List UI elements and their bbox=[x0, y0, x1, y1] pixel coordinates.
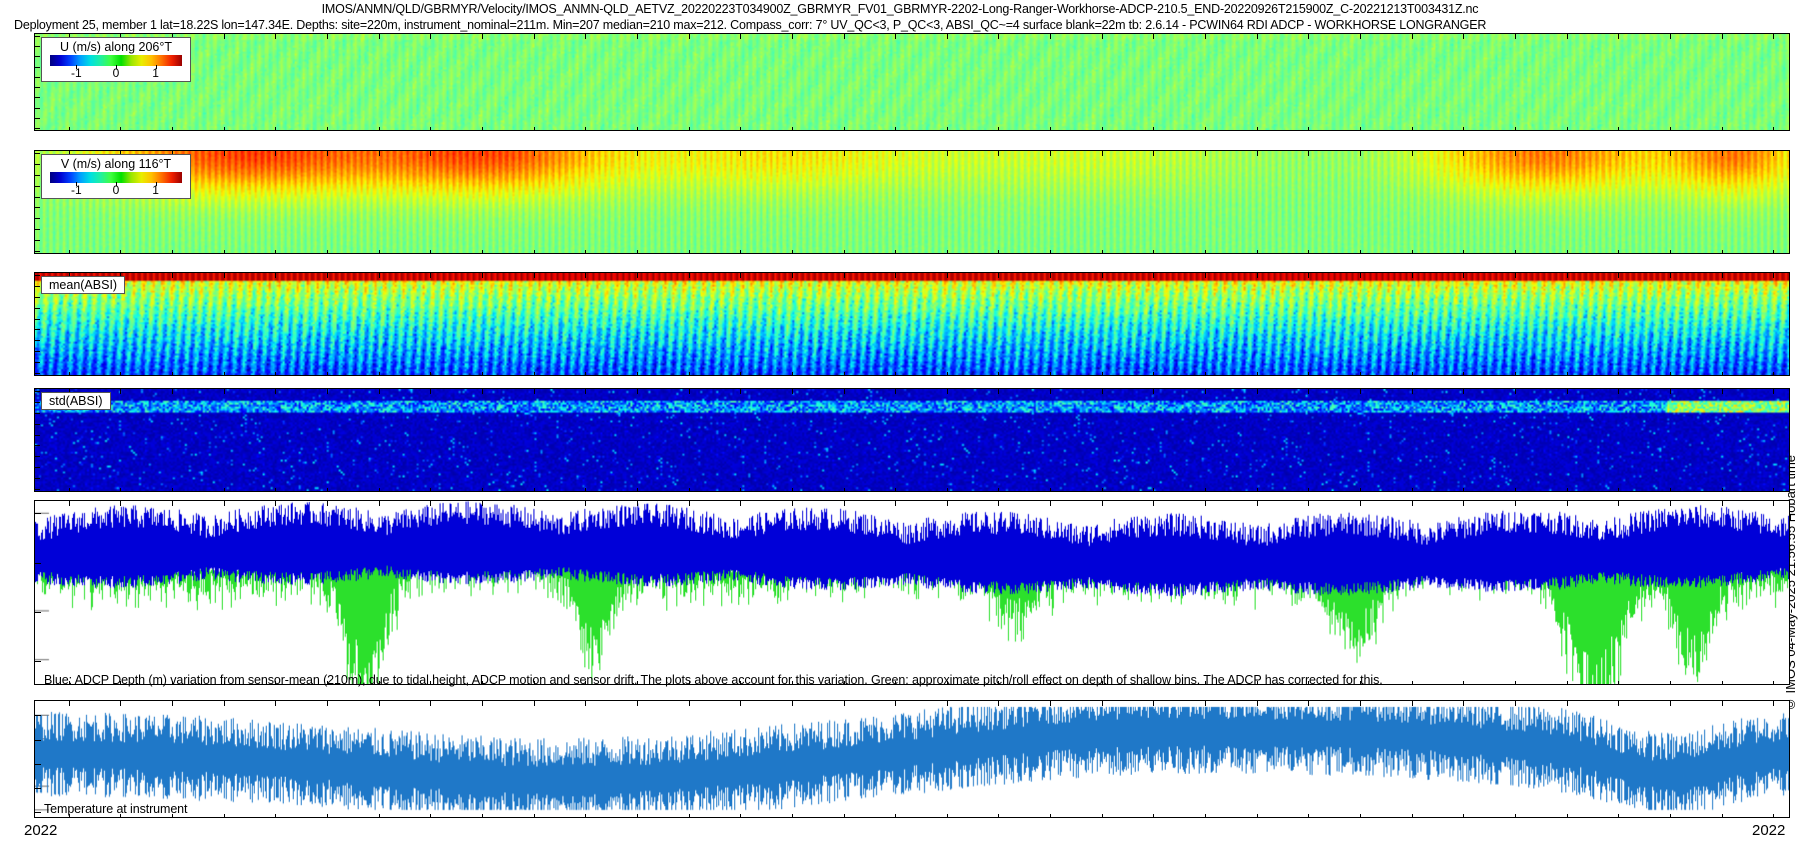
colorbar-ticks: -1 0 1 bbox=[50, 183, 182, 197]
axis-tick bbox=[430, 501, 431, 506]
axis-tick bbox=[379, 814, 380, 818]
axis-tick bbox=[689, 501, 690, 506]
axis-tick bbox=[1670, 34, 1671, 39]
axis-tick bbox=[1463, 151, 1464, 156]
axis-tick bbox=[895, 372, 896, 376]
axis-tick bbox=[947, 151, 948, 156]
axis-tick bbox=[792, 814, 793, 818]
axis-tick bbox=[585, 34, 586, 39]
axis-tick bbox=[1360, 501, 1361, 506]
axis-tick bbox=[844, 701, 845, 706]
axis-tick bbox=[998, 372, 999, 376]
axis-tick bbox=[1102, 814, 1103, 818]
colorbar-tick-mark bbox=[116, 182, 117, 186]
axis-tick bbox=[1360, 372, 1361, 376]
axis-tick bbox=[1412, 389, 1413, 394]
axis-tick bbox=[379, 127, 380, 131]
axis-tick bbox=[1670, 372, 1671, 376]
axis-tick bbox=[35, 329, 40, 330]
axis-tick bbox=[947, 488, 948, 492]
axis-tick bbox=[585, 501, 586, 506]
axis-tick bbox=[1773, 701, 1774, 706]
axis-tick bbox=[1257, 273, 1258, 278]
axis-tick bbox=[1153, 34, 1154, 39]
axis-tick bbox=[895, 701, 896, 706]
axis-tick bbox=[35, 97, 40, 98]
axis-tick bbox=[1412, 681, 1413, 685]
axis-tick bbox=[1308, 389, 1309, 394]
axis-tick bbox=[35, 373, 40, 374]
axis-tick bbox=[275, 372, 276, 376]
axis-tick bbox=[1773, 34, 1774, 39]
axis-tick bbox=[35, 308, 40, 309]
axis-tick bbox=[327, 501, 328, 506]
axis-tick bbox=[895, 273, 896, 278]
axis-tick bbox=[1618, 151, 1619, 156]
axis-tick bbox=[224, 488, 225, 492]
axis-tick bbox=[1618, 34, 1619, 39]
axis-tick bbox=[35, 36, 40, 37]
axis-tick bbox=[1308, 273, 1309, 278]
axis-tick bbox=[35, 218, 40, 219]
axis-tick bbox=[1515, 34, 1516, 39]
axis-tick bbox=[1102, 501, 1103, 506]
axis-tick bbox=[120, 501, 121, 506]
axis-tick bbox=[327, 127, 328, 131]
axis-tick bbox=[35, 229, 40, 230]
axis-tick bbox=[35, 362, 40, 363]
axis-tick bbox=[1722, 372, 1723, 376]
axis-tick bbox=[35, 661, 41, 662]
axis-tick bbox=[275, 151, 276, 156]
axis-tick bbox=[1102, 250, 1103, 254]
axis-tick bbox=[637, 701, 638, 706]
axis-tick bbox=[482, 389, 483, 394]
axis-tick bbox=[35, 77, 40, 78]
axis-tick bbox=[844, 250, 845, 254]
axis-tick bbox=[430, 488, 431, 492]
colorbar-title-u: U (m/s) along 206°T bbox=[50, 40, 182, 54]
axis-tick bbox=[1567, 814, 1568, 818]
axis-tick bbox=[1515, 273, 1516, 278]
axis-tick bbox=[637, 273, 638, 278]
axis-tick bbox=[35, 240, 40, 241]
axis-tick bbox=[1670, 151, 1671, 156]
axis-tick bbox=[585, 814, 586, 818]
axis-tick bbox=[1205, 127, 1206, 131]
axis-tick bbox=[1618, 372, 1619, 376]
axis-tick bbox=[327, 273, 328, 278]
axis-tick bbox=[1153, 389, 1154, 394]
axis-tick bbox=[1257, 389, 1258, 394]
axis-tick bbox=[35, 489, 40, 490]
axis-tick bbox=[689, 389, 690, 394]
axis-tick bbox=[172, 701, 173, 706]
axis-tick bbox=[1670, 501, 1671, 506]
axis-tick bbox=[1360, 814, 1361, 818]
axis-tick bbox=[1050, 814, 1051, 818]
axis-tick bbox=[947, 701, 948, 706]
axis-tick bbox=[1153, 701, 1154, 706]
axis-tick bbox=[275, 250, 276, 254]
axis-tick bbox=[998, 34, 999, 39]
axis-tick bbox=[35, 456, 40, 457]
axis-tick bbox=[1463, 488, 1464, 492]
axis-tick bbox=[69, 250, 70, 254]
axis-tick bbox=[792, 127, 793, 131]
axis-tick bbox=[35, 740, 41, 741]
axis-tick bbox=[1308, 34, 1309, 39]
axis-tick bbox=[1257, 127, 1258, 131]
axis-tick bbox=[1773, 488, 1774, 492]
axis-tick bbox=[1050, 701, 1051, 706]
axis-tick bbox=[35, 612, 41, 613]
axis-tick bbox=[379, 250, 380, 254]
axis-tick bbox=[1153, 488, 1154, 492]
axis-tick bbox=[1567, 250, 1568, 254]
axis-tick bbox=[1670, 814, 1671, 818]
axis-tick bbox=[1670, 127, 1671, 131]
axis-tick bbox=[482, 372, 483, 376]
axis-tick bbox=[35, 319, 40, 320]
axis-tick bbox=[792, 389, 793, 394]
axis-tick bbox=[1567, 127, 1568, 131]
axis-tick bbox=[379, 151, 380, 156]
axis-tick bbox=[172, 372, 173, 376]
axis-tick bbox=[35, 128, 40, 129]
axis-tick bbox=[482, 501, 483, 506]
axis-tick bbox=[689, 814, 690, 818]
axis-tick bbox=[1205, 389, 1206, 394]
axis-tick bbox=[947, 389, 948, 394]
u-velocity-heatmap bbox=[35, 34, 1789, 130]
axis-tick bbox=[1050, 151, 1051, 156]
axis-tick bbox=[740, 814, 741, 818]
axis-tick bbox=[430, 701, 431, 706]
axis-tick bbox=[1618, 681, 1619, 685]
axis-tick bbox=[998, 701, 999, 706]
axis-tick bbox=[1463, 273, 1464, 278]
axis-tick bbox=[430, 151, 431, 156]
axis-tick bbox=[740, 34, 741, 39]
axis-tick bbox=[35, 186, 40, 187]
axis-tick bbox=[585, 701, 586, 706]
axis-tick bbox=[1722, 273, 1723, 278]
axis-tick bbox=[379, 488, 380, 492]
axis-tick bbox=[689, 273, 690, 278]
axis-tick bbox=[998, 151, 999, 156]
axis-tick bbox=[482, 250, 483, 254]
axis-tick bbox=[1308, 127, 1309, 131]
axis-tick bbox=[482, 34, 483, 39]
axis-tick bbox=[1722, 34, 1723, 39]
axis-tick bbox=[1308, 501, 1309, 506]
axis-tick bbox=[1618, 501, 1619, 506]
axis-tick bbox=[224, 814, 225, 818]
axis-tick bbox=[1412, 250, 1413, 254]
axis-tick bbox=[379, 372, 380, 376]
axis-tick bbox=[1257, 372, 1258, 376]
axis-tick bbox=[895, 151, 896, 156]
axis-tick bbox=[1618, 127, 1619, 131]
axis-tick bbox=[1153, 151, 1154, 156]
axis-tick bbox=[585, 488, 586, 492]
panel-label-mean-absi: mean(ABSI) bbox=[41, 276, 125, 294]
axis-tick bbox=[1567, 151, 1568, 156]
axis-tick bbox=[172, 389, 173, 394]
u-velocity-colorbar: U (m/s) along 206°T -1 0 1 bbox=[41, 37, 191, 82]
axis-tick bbox=[35, 563, 41, 564]
axis-tick bbox=[430, 273, 431, 278]
axis-tick bbox=[792, 488, 793, 492]
axis-tick bbox=[792, 273, 793, 278]
axis-tick bbox=[1257, 250, 1258, 254]
axis-tick bbox=[1567, 701, 1568, 706]
axis-tick bbox=[637, 34, 638, 39]
figure-subtitle: Deployment 25, member 1 lat=18.22S lon=1… bbox=[14, 18, 1800, 32]
axis-tick bbox=[1722, 127, 1723, 131]
axis-tick bbox=[1567, 372, 1568, 376]
axis-tick bbox=[224, 372, 225, 376]
axis-tick bbox=[379, 501, 380, 506]
axis-tick bbox=[1773, 501, 1774, 506]
axis-tick bbox=[35, 513, 41, 514]
axis-tick bbox=[69, 372, 70, 376]
axis-tick bbox=[1567, 273, 1568, 278]
axis-tick bbox=[534, 151, 535, 156]
axis-tick bbox=[1670, 250, 1671, 254]
axis-tick bbox=[35, 715, 41, 716]
axis-tick bbox=[224, 127, 225, 131]
axis-tick bbox=[1153, 250, 1154, 254]
v-velocity-heatmap bbox=[35, 151, 1789, 253]
axis-tick bbox=[1773, 250, 1774, 254]
axis-tick bbox=[1308, 814, 1309, 818]
axis-tick bbox=[327, 250, 328, 254]
axis-tick bbox=[430, 814, 431, 818]
axis-tick bbox=[1618, 701, 1619, 706]
axis-tick bbox=[1050, 501, 1051, 506]
axis-tick bbox=[482, 151, 483, 156]
axis-tick bbox=[1773, 814, 1774, 818]
axis-tick bbox=[792, 372, 793, 376]
axis-tick bbox=[689, 372, 690, 376]
axis-tick bbox=[689, 701, 690, 706]
panel-mean-absi: mean(ABSI) 0-20-40-60-80-100-120-140-160… bbox=[34, 272, 1790, 376]
axis-tick bbox=[35, 340, 40, 341]
axis-tick bbox=[895, 389, 896, 394]
axis-tick bbox=[637, 151, 638, 156]
axis-tick bbox=[35, 478, 40, 479]
axis-tick bbox=[327, 372, 328, 376]
axis-tick bbox=[1050, 488, 1051, 492]
axis-tick bbox=[1257, 814, 1258, 818]
depth-variation-plot bbox=[35, 501, 1789, 684]
axis-tick bbox=[35, 445, 40, 446]
axis-tick bbox=[844, 273, 845, 278]
axis-tick bbox=[637, 488, 638, 492]
axis-tick bbox=[792, 34, 793, 39]
panel-std-absi: std(ABSI) 0-20-40-60-80-100-120-140-160-… bbox=[34, 388, 1790, 492]
axis-tick bbox=[947, 127, 948, 131]
axis-tick bbox=[1153, 501, 1154, 506]
axis-tick bbox=[1515, 501, 1516, 506]
axis-tick bbox=[1618, 389, 1619, 394]
axis-tick bbox=[689, 488, 690, 492]
axis-tick bbox=[740, 501, 741, 506]
axis-tick bbox=[1618, 488, 1619, 492]
axis-tick bbox=[69, 488, 70, 492]
year-label-left: 2022 bbox=[24, 822, 57, 839]
axis-tick bbox=[998, 814, 999, 818]
axis-tick bbox=[1412, 151, 1413, 156]
axis-tick bbox=[482, 488, 483, 492]
axis-tick bbox=[1773, 372, 1774, 376]
axis-tick bbox=[1205, 34, 1206, 39]
axis-tick bbox=[35, 197, 40, 198]
axis-tick bbox=[998, 389, 999, 394]
axis-tick bbox=[1722, 701, 1723, 706]
axis-tick bbox=[1050, 34, 1051, 39]
axis-tick bbox=[792, 250, 793, 254]
axis-tick bbox=[1515, 389, 1516, 394]
axis-tick bbox=[224, 701, 225, 706]
axis-tick bbox=[947, 250, 948, 254]
axis-tick bbox=[844, 389, 845, 394]
temperature-plot bbox=[35, 701, 1789, 817]
axis-tick bbox=[1567, 34, 1568, 39]
axis-tick bbox=[1360, 701, 1361, 706]
axis-tick bbox=[1463, 372, 1464, 376]
axis-tick bbox=[1722, 814, 1723, 818]
axis-tick bbox=[1618, 814, 1619, 818]
axis-tick bbox=[689, 151, 690, 156]
axis-tick bbox=[740, 273, 741, 278]
axis-tick bbox=[1567, 389, 1568, 394]
axis-tick bbox=[895, 250, 896, 254]
axis-tick bbox=[637, 501, 638, 506]
axis-tick bbox=[1205, 372, 1206, 376]
axis-tick bbox=[35, 351, 40, 352]
axis-tick bbox=[327, 389, 328, 394]
axis-tick bbox=[120, 372, 121, 376]
axis-tick bbox=[1102, 701, 1103, 706]
axis-tick bbox=[1722, 681, 1723, 685]
axis-tick bbox=[895, 34, 896, 39]
colorbar-title-v: V (m/s) along 116°T bbox=[50, 157, 182, 171]
axis-tick bbox=[1515, 701, 1516, 706]
axis-tick bbox=[585, 273, 586, 278]
axis-tick bbox=[379, 34, 380, 39]
axis-tick bbox=[947, 273, 948, 278]
axis-tick bbox=[1670, 681, 1671, 685]
panel-u-velocity: U (m/s) along 206°T -1 0 1 0-20-40-60-80… bbox=[34, 33, 1790, 131]
axis-tick bbox=[1463, 34, 1464, 39]
axis-tick bbox=[1205, 701, 1206, 706]
axis-tick bbox=[1412, 273, 1413, 278]
axis-tick bbox=[1722, 250, 1723, 254]
axis-tick bbox=[430, 127, 431, 131]
axis-tick bbox=[1463, 681, 1464, 685]
axis-tick bbox=[1050, 372, 1051, 376]
axis-tick bbox=[120, 127, 121, 131]
axis-tick bbox=[1102, 273, 1103, 278]
axis-tick bbox=[35, 108, 40, 109]
axis-tick bbox=[482, 127, 483, 131]
axis-tick bbox=[1153, 814, 1154, 818]
axis-tick bbox=[637, 814, 638, 818]
axis-tick bbox=[172, 250, 173, 254]
axis-tick bbox=[120, 250, 121, 254]
axis-tick bbox=[1412, 814, 1413, 818]
axis-tick bbox=[1515, 681, 1516, 685]
axis-tick bbox=[1412, 501, 1413, 506]
axis-tick bbox=[637, 127, 638, 131]
axis-tick bbox=[1257, 488, 1258, 492]
axis-tick bbox=[224, 501, 225, 506]
panel-depth-variation: 20-2-4 bbox=[34, 500, 1790, 685]
axis-tick bbox=[1050, 250, 1051, 254]
axis-tick bbox=[1463, 250, 1464, 254]
axis-tick bbox=[275, 127, 276, 131]
axis-tick bbox=[1102, 372, 1103, 376]
axis-tick bbox=[585, 250, 586, 254]
axis-tick bbox=[35, 118, 40, 119]
axis-tick bbox=[534, 273, 535, 278]
colorbar-tick-mark bbox=[116, 65, 117, 69]
axis-tick bbox=[1670, 488, 1671, 492]
axis-tick bbox=[1360, 127, 1361, 131]
axis-tick bbox=[1257, 701, 1258, 706]
axis-tick bbox=[689, 250, 690, 254]
axis-tick bbox=[275, 814, 276, 818]
axis-tick bbox=[1463, 389, 1464, 394]
axis-tick bbox=[430, 250, 431, 254]
axis-tick bbox=[35, 175, 40, 176]
axis-tick bbox=[740, 250, 741, 254]
axis-tick bbox=[1773, 681, 1774, 685]
axis-tick bbox=[172, 488, 173, 492]
axis-tick bbox=[1308, 250, 1309, 254]
axis-tick bbox=[1205, 151, 1206, 156]
axis-tick bbox=[275, 701, 276, 706]
axis-tick bbox=[1102, 151, 1103, 156]
axis-tick bbox=[1412, 488, 1413, 492]
axis-tick bbox=[224, 34, 225, 39]
axis-tick bbox=[1722, 488, 1723, 492]
axis-tick bbox=[120, 389, 121, 394]
axis-tick bbox=[1515, 372, 1516, 376]
axis-tick bbox=[224, 151, 225, 156]
axis-tick bbox=[224, 273, 225, 278]
v-velocity-colorbar: V (m/s) along 116°T -1 0 1 bbox=[41, 154, 191, 199]
axis-tick bbox=[1153, 127, 1154, 131]
axis-tick bbox=[172, 273, 173, 278]
mean-absi-heatmap bbox=[35, 273, 1789, 375]
axis-tick bbox=[585, 372, 586, 376]
axis-tick bbox=[1773, 127, 1774, 131]
axis-tick bbox=[1205, 488, 1206, 492]
axis-tick bbox=[430, 372, 431, 376]
axis-tick bbox=[1308, 488, 1309, 492]
axis-tick bbox=[1412, 701, 1413, 706]
axis-tick bbox=[35, 402, 40, 403]
axis-tick bbox=[35, 413, 40, 414]
axis-tick bbox=[1515, 151, 1516, 156]
axis-tick bbox=[224, 389, 225, 394]
axis-tick bbox=[482, 273, 483, 278]
axis-tick bbox=[327, 151, 328, 156]
